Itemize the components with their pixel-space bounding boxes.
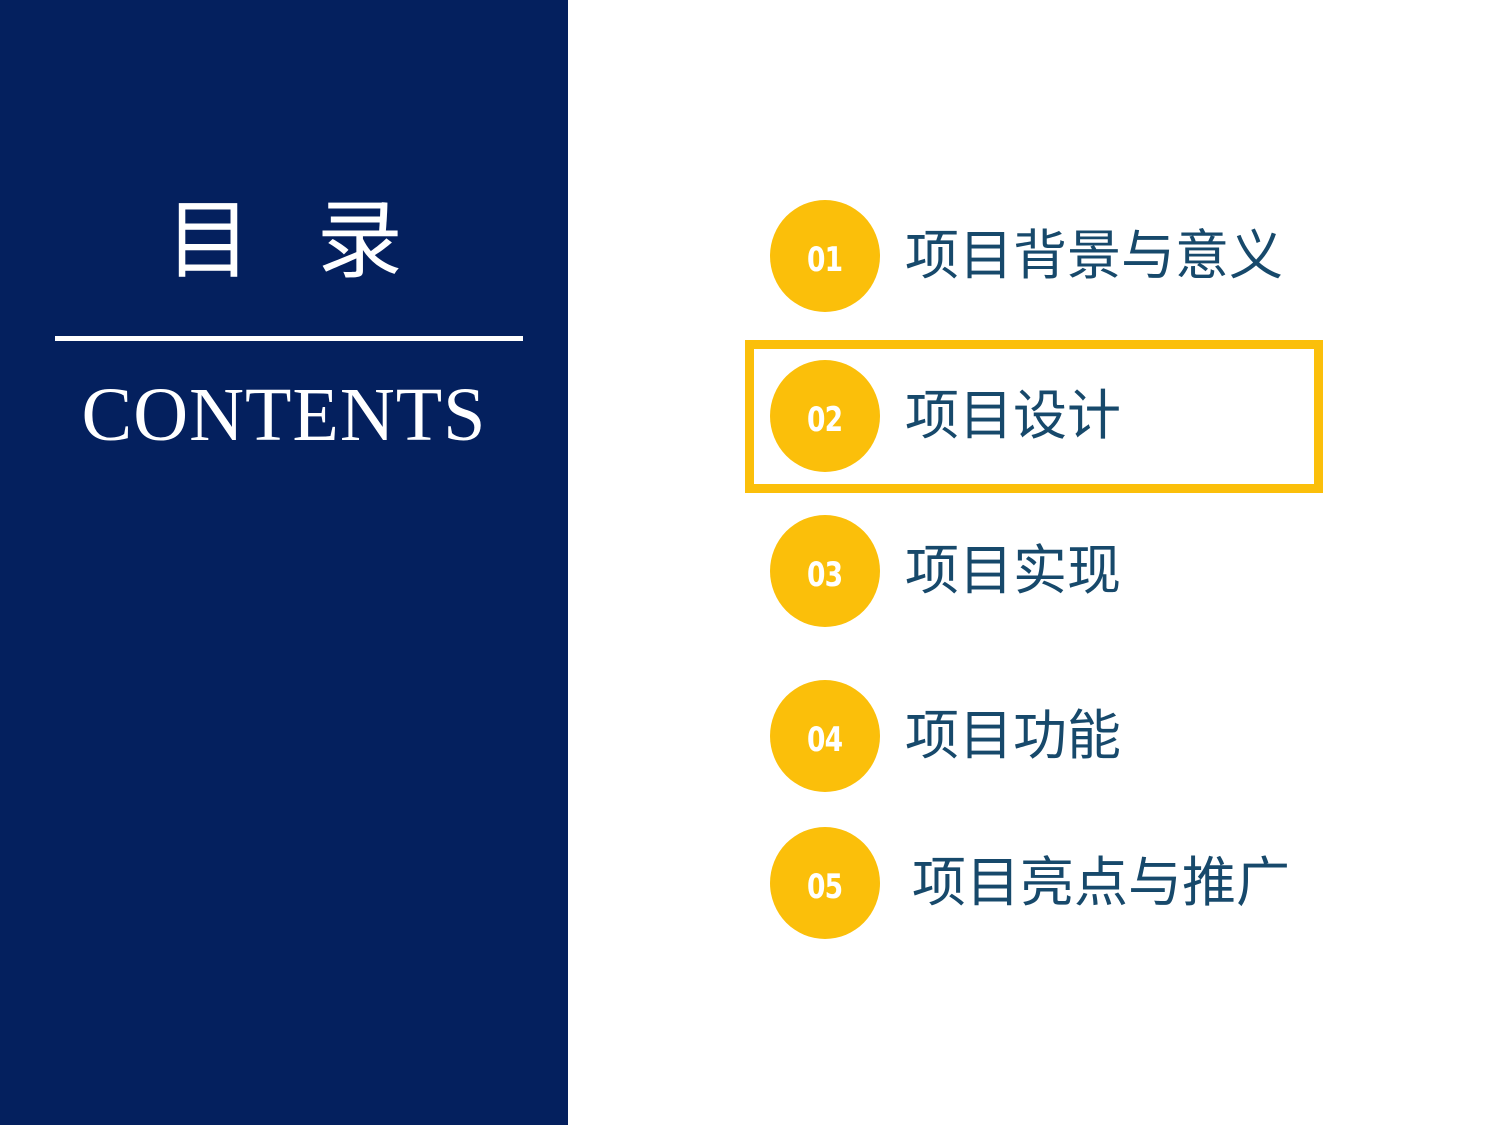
toc-item-label: 项目实现 xyxy=(905,515,1121,627)
toc-item-label: 项目设计 xyxy=(905,360,1121,472)
toc-item-label: 项目亮点与推广 xyxy=(912,827,1290,939)
toc-number-badge-02[interactable]: 02 xyxy=(770,360,880,472)
toc-item-02[interactable]: 02 项目设计 xyxy=(568,360,1500,472)
toc-item-05[interactable]: 05 项目亮点与推广 xyxy=(568,827,1500,939)
page-title-english: CONTENTS xyxy=(0,377,568,453)
toc-item-label: 项目功能 xyxy=(905,680,1121,792)
toc-number-badge-05[interactable]: 05 xyxy=(770,827,880,939)
toc-number-label: 03 xyxy=(807,558,842,592)
toc-number-label: 04 xyxy=(807,723,842,757)
toc-item-03[interactable]: 03 项目实现 xyxy=(568,515,1500,627)
page-title-chinese: 目 录 xyxy=(0,198,568,284)
toc-item-01[interactable]: 01 项目背景与意义 xyxy=(568,200,1500,312)
toc-number-badge-04[interactable]: 04 xyxy=(770,680,880,792)
toc-number-label: 02 xyxy=(807,403,842,437)
title-divider xyxy=(55,336,523,341)
slide-root: 目 录 CONTENTS 01 项目背景与意义 02 项目设计 03 项目实现 … xyxy=(0,0,1500,1125)
toc-number-badge-03[interactable]: 03 xyxy=(770,515,880,627)
toc-item-label: 项目背景与意义 xyxy=(905,200,1283,312)
toc-number-label: 05 xyxy=(807,870,842,904)
toc-number-badge-01[interactable]: 01 xyxy=(770,200,880,312)
table-of-contents-list: 01 项目背景与意义 02 项目设计 03 项目实现 04 项目功能 05 xyxy=(568,0,1500,1125)
left-title-panel: 目 录 CONTENTS xyxy=(0,0,568,1125)
toc-item-04[interactable]: 04 项目功能 xyxy=(568,680,1500,792)
toc-number-label: 01 xyxy=(807,243,842,277)
